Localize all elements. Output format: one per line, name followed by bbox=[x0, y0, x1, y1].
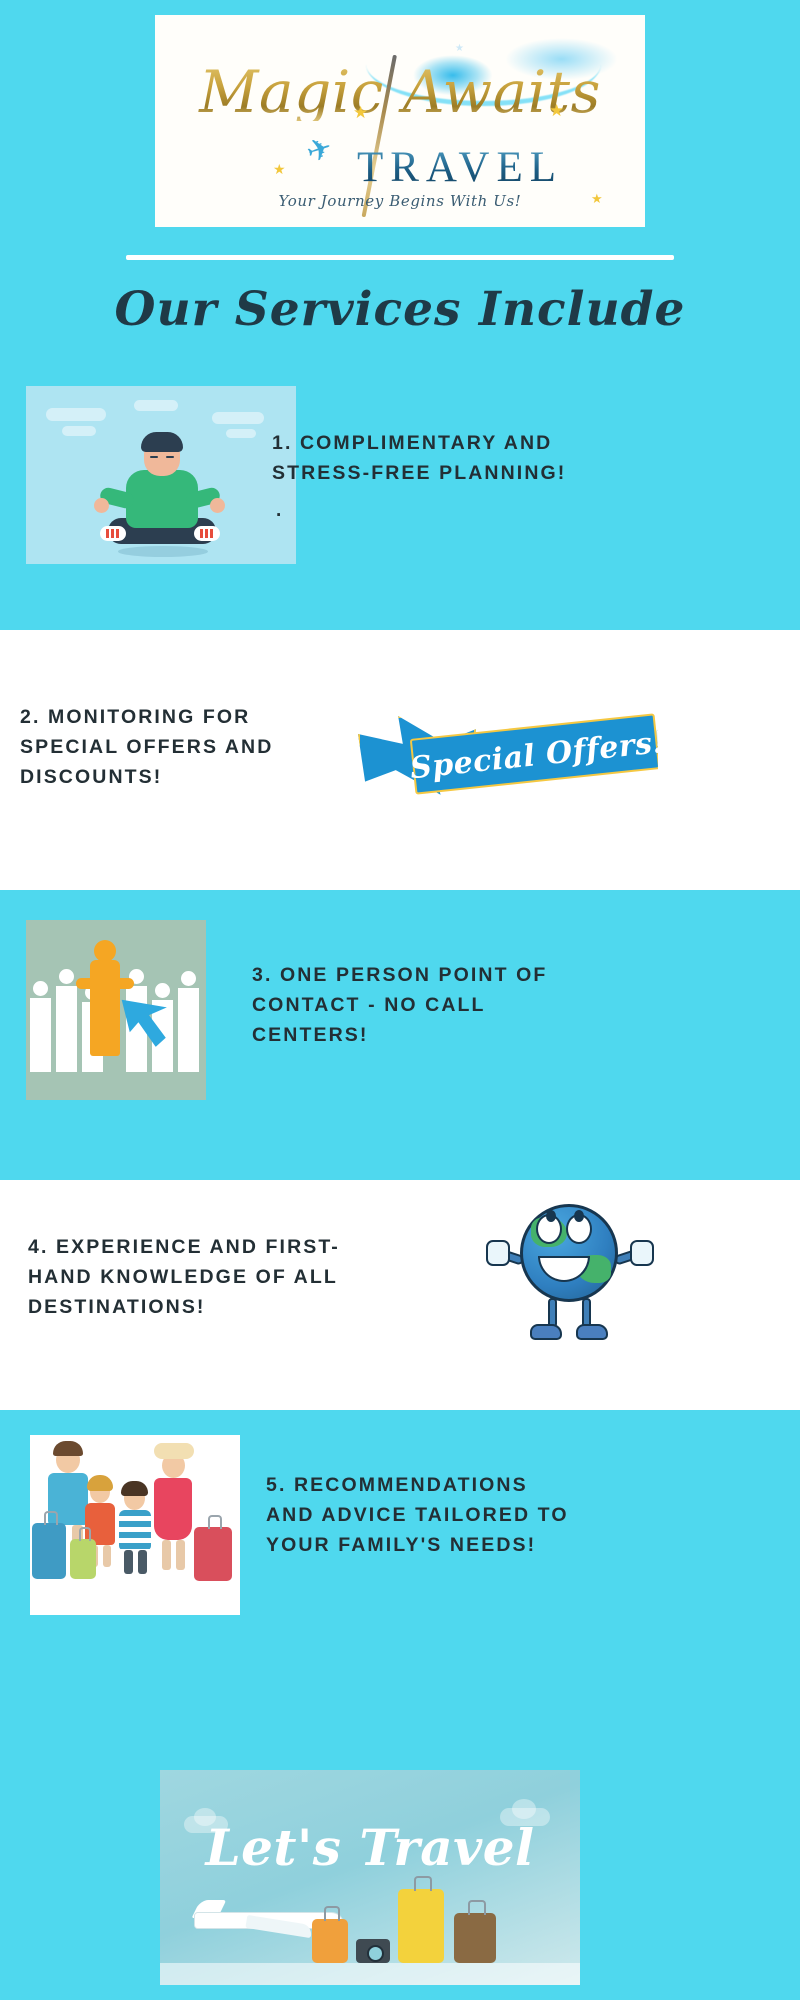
highlighted-person-arm-icon bbox=[76, 978, 134, 989]
highlighted-person-icon bbox=[90, 960, 120, 1056]
page-title: Our Services Include bbox=[0, 282, 800, 337]
logo-tagline: Your Journey Begins With Us! bbox=[155, 192, 645, 210]
star-icon: ★ bbox=[353, 103, 368, 123]
service-item-3-text: 3. ONE PERSON POINT OF CONTACT - NO CALL… bbox=[252, 960, 552, 1051]
service-item-1-trailing-dot: . bbox=[276, 500, 281, 522]
globe-thumbs-up-illustration bbox=[486, 1200, 656, 1360]
meditating-man-illustration bbox=[26, 386, 296, 564]
star-icon: ★ bbox=[273, 161, 286, 178]
infographic-page: Magic Awaits TRAVEL ✈ ★ ★ ★ ★ Your Journ… bbox=[0, 0, 800, 2000]
footer-banner: Let's Travel bbox=[160, 1770, 580, 1985]
footer-banner-title: Let's Travel bbox=[160, 1818, 580, 1877]
one-point-of-contact-illustration bbox=[26, 920, 206, 1100]
special-offers-star-banner: Special Offers! bbox=[358, 700, 658, 810]
banner-ground-strip bbox=[160, 1963, 580, 1985]
star-icon: ★ bbox=[591, 191, 603, 207]
suitcase-icon bbox=[398, 1889, 444, 1963]
star-icon: ★ bbox=[549, 101, 564, 121]
suitcase-icon bbox=[312, 1919, 348, 1963]
service-item-1-text: 1. COMPLIMENTARY AND STRESS-FREE PLANNIN… bbox=[272, 428, 582, 488]
logo-script-text: Magic Awaits bbox=[155, 63, 645, 121]
highlighted-person-head-icon bbox=[94, 940, 116, 962]
logo-travel-word: TRAVEL bbox=[155, 143, 645, 192]
family-with-luggage-illustration bbox=[30, 1435, 240, 1615]
suitcase-icon bbox=[454, 1913, 496, 1963]
logo-card: Magic Awaits TRAVEL ✈ ★ ★ ★ ★ Your Journ… bbox=[155, 15, 645, 227]
service-item-4-text: 4. EXPERIENCE AND FIRST-HAND KNOWLEDGE O… bbox=[28, 1232, 348, 1323]
header-divider bbox=[126, 255, 674, 260]
service-item-2-text: 2. MONITORING FOR SPECIAL OFFERS AND DIS… bbox=[20, 702, 285, 793]
camera-icon bbox=[356, 1939, 390, 1963]
star-icon: ★ bbox=[455, 43, 464, 54]
service-item-5-text: 5. RECOMMENDATIONS AND ADVICE TAILORED T… bbox=[266, 1470, 576, 1561]
